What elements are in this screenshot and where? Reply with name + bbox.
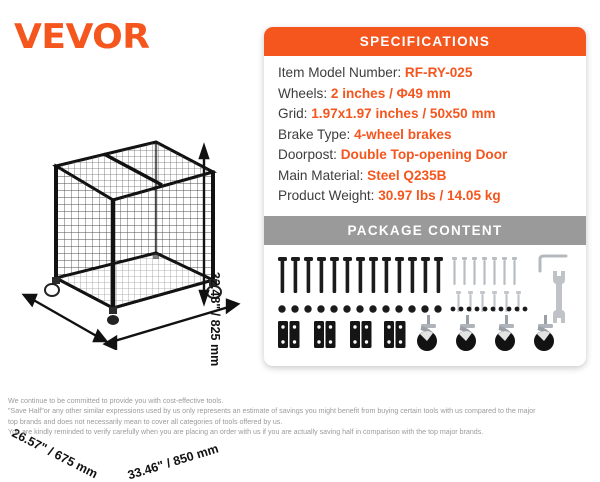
disclaimer-line: You are kindly reminded to verify carefu… [8,427,596,437]
spec-row: Product Weight: 30.97 lbs / 14.05 kg [278,186,586,207]
info-card: SPECIFICATIONS Item Model Number: RF-RY-… [264,27,586,366]
spec-row: Brake Type: 4-wheel brakes [278,125,586,146]
spec-row: Main Material: Steel Q235B [278,166,586,187]
spec-value: Double Top-opening Door [341,147,508,162]
spec-value: 30.97 lbs / 14.05 kg [378,188,500,203]
spec-value: RF-RY-025 [405,65,472,80]
swivel-casters-group [417,315,554,351]
spec-label: Doorpost: [278,147,341,162]
hinges-group [278,321,406,348]
spec-value: 4-wheel brakes [354,127,451,142]
black-bolts-group [278,257,443,293]
package-content-header: PACKAGE CONTENT [264,216,586,245]
specifications-list: Item Model Number: RF-RY-025 Wheels: 2 i… [264,56,586,216]
spec-row: Grid: 1.97x1.97 inches / 50x50 mm [278,104,586,125]
disclaimer-line: We continue to be committed to provide y… [8,396,596,406]
spec-value: 1.97x1.97 inches / 50x50 mm [311,106,495,121]
spec-label: Brake Type: [278,127,354,142]
disclaimer-line: "Save Half"or any other similar expressi… [8,406,596,416]
spec-row: Doorpost: Double Top-opening Door [278,145,586,166]
product-spec-page: VEVOR [0,0,600,450]
spec-label: Wheels: [278,86,331,101]
hex-allen-key-icon [540,256,566,271]
disclaimer: We continue to be committed to provide y… [8,396,596,438]
spec-row: Item Model Number: RF-RY-025 [278,63,586,84]
small-nuts-group [451,306,528,311]
spec-label: Grid: [278,106,311,121]
package-content-parts [264,245,586,366]
dimension-width: 33.46" / 850 mm [126,441,220,482]
disclaimer-line: top brands and does not necessarily mean… [8,417,596,427]
silver-screws-long-group [452,257,517,285]
spec-label: Item Model Number: [278,65,405,80]
vevor-logo: VEVOR [14,17,150,57]
large-nuts-group [278,305,441,312]
spec-row: Wheels: 2 inches / Φ49 mm [278,84,586,105]
spec-value: Steel Q235B [367,168,446,183]
specifications-header: SPECIFICATIONS [264,27,586,56]
spec-label: Main Material: [278,168,367,183]
product-image: 32.48" / 825 mm 26.57" / 675 mm 33.46" /… [8,120,258,350]
spec-label: Product Weight: [278,188,378,203]
spec-value: 2 inches / Φ49 mm [331,86,451,101]
dimension-height: 32.48" / 825 mm [208,272,222,366]
parts-illustration [264,251,586,356]
open-end-wrench-icon [553,271,565,323]
